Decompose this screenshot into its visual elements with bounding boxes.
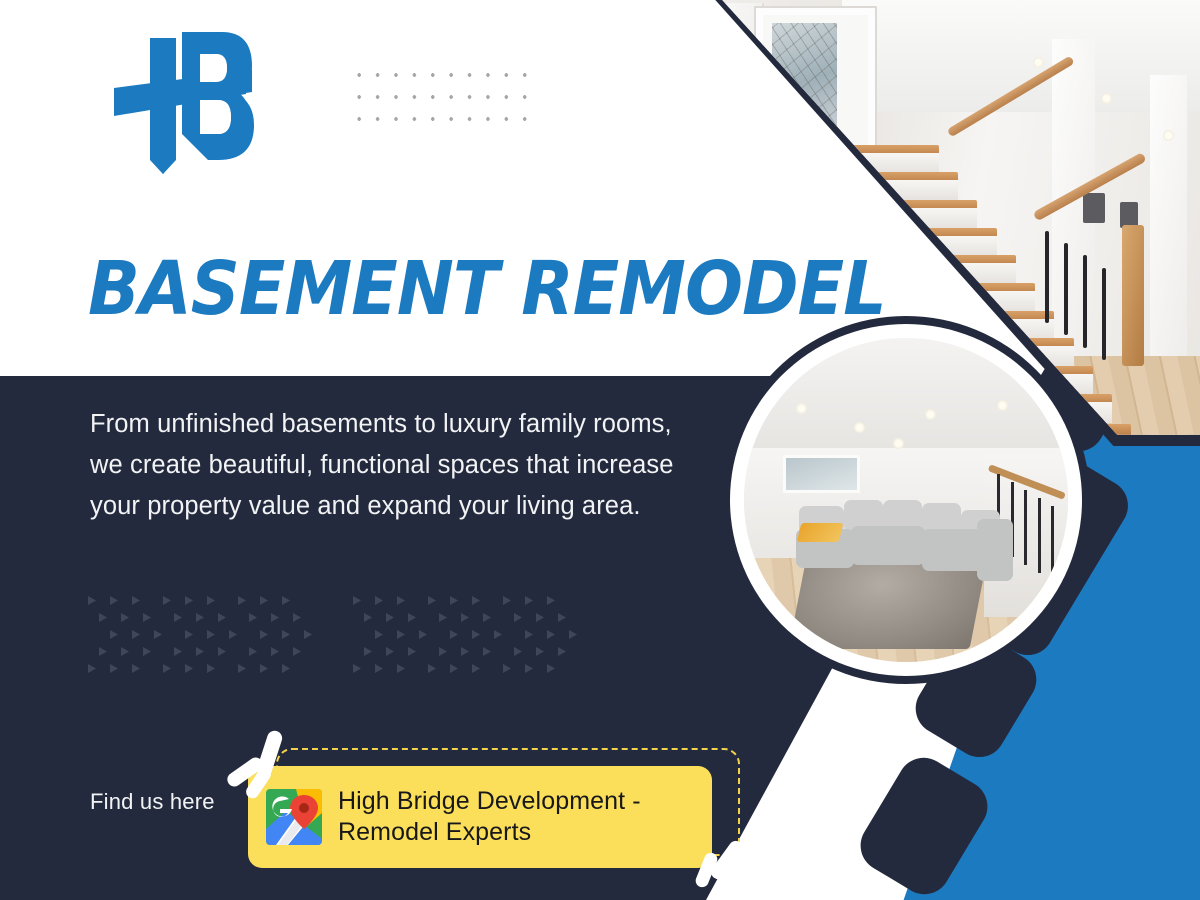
photo-livingroom xyxy=(744,338,1068,662)
hb-logo xyxy=(96,28,256,178)
cta-button[interactable]: High Bridge Development - Remodel Expert… xyxy=(248,766,712,868)
body-paragraph: From unfinished basements to luxury fami… xyxy=(90,404,690,527)
find-us-label: Find us here xyxy=(90,789,215,815)
triangle-pattern-decor xyxy=(88,596,608,674)
poster-canvas: BASEMENT REMODEL From unfinished basemen… xyxy=(0,0,1200,900)
google-maps-icon xyxy=(266,789,322,845)
page-title: BASEMENT REMODEL xyxy=(88,252,886,326)
dot-grid-decor xyxy=(348,62,532,130)
cta-button-label: High Bridge Development - Remodel Expert… xyxy=(338,786,694,848)
